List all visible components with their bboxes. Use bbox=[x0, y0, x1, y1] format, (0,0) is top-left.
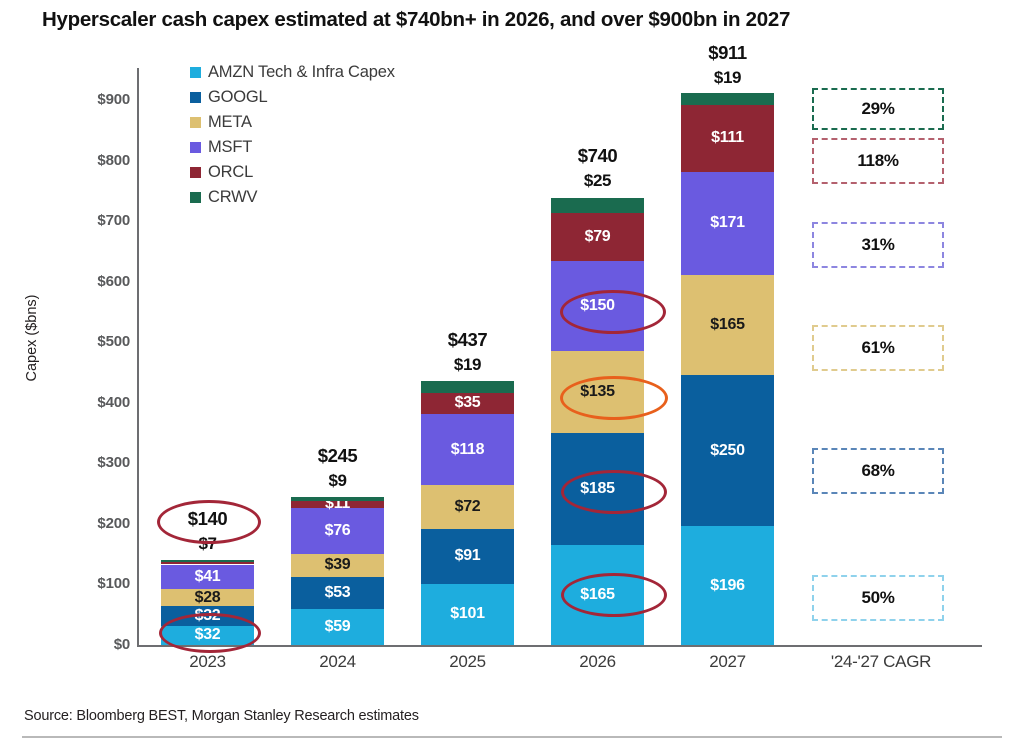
bar-segment-amzn-2027[interactable]: $196 bbox=[681, 526, 774, 645]
y-axis-tick: $500 bbox=[48, 333, 130, 350]
bar-total-label-2023: $140 bbox=[131, 508, 284, 530]
cagr-box-googl[interactable]: 68% bbox=[812, 448, 944, 494]
x-axis-label-2026: 2026 bbox=[536, 652, 659, 672]
segment-value-label: $59 bbox=[325, 619, 351, 635]
segment-value-label: $39 bbox=[325, 557, 351, 573]
cagr-box-msft[interactable]: 31% bbox=[812, 222, 944, 268]
bar-segment-googl-2023[interactable]: $32 bbox=[161, 606, 254, 625]
bar-segment-msft-2024[interactable]: $76 bbox=[291, 508, 384, 554]
bar-segment-meta-2027[interactable]: $165 bbox=[681, 275, 774, 375]
segment-value-label: $135 bbox=[580, 384, 614, 400]
bar-segment-meta-2023[interactable]: $28 bbox=[161, 589, 254, 606]
x-axis-label-2025: 2025 bbox=[406, 652, 529, 672]
bar-segment-googl-2025[interactable]: $91 bbox=[421, 529, 514, 584]
bar-segment-googl-2024[interactable]: $53 bbox=[291, 577, 384, 609]
bar-segment-msft-2027[interactable]: $171 bbox=[681, 172, 774, 275]
source-note: Source: Bloomberg BEST, Morgan Stanley R… bbox=[24, 708, 419, 724]
x-axis-line bbox=[137, 645, 982, 647]
y-axis-tick: $300 bbox=[48, 454, 130, 471]
y-axis-tick: $700 bbox=[48, 212, 130, 229]
cagr-value: 50% bbox=[861, 588, 894, 608]
bar-total-label-2026: $740 bbox=[521, 145, 674, 167]
segment-value-label: $185 bbox=[580, 481, 614, 497]
cagr-box-amzn[interactable]: 50% bbox=[812, 575, 944, 621]
bar-segment-msft-2023[interactable]: $41 bbox=[161, 565, 254, 590]
bar-segment-orcl-2024[interactable]: $11 bbox=[291, 501, 384, 508]
bar-total-label-2024: $245 bbox=[261, 445, 414, 467]
x-axis-label-2023: 2023 bbox=[146, 652, 269, 672]
bar-segment-meta-2025[interactable]: $72 bbox=[421, 485, 514, 529]
bar-segment-meta-2026[interactable]: $135 bbox=[551, 351, 644, 433]
y-axis-tick: $400 bbox=[48, 394, 130, 411]
segment-value-label: $72 bbox=[455, 499, 481, 515]
y-axis-tick: $600 bbox=[48, 273, 130, 290]
bar-segment-orcl-2023[interactable] bbox=[161, 562, 254, 564]
segment-value-label: $32 bbox=[195, 608, 221, 624]
top-segment-label-2026: $25 bbox=[521, 171, 674, 191]
cagr-value: 61% bbox=[861, 338, 894, 358]
bar-segment-orcl-2027[interactable]: $111 bbox=[681, 105, 774, 172]
bar-segment-amzn-2026[interactable]: $165 bbox=[551, 545, 644, 645]
bottom-divider bbox=[22, 736, 1002, 738]
bar-segment-amzn-2025[interactable]: $101 bbox=[421, 584, 514, 645]
bar-segment-crwv-2027[interactable] bbox=[681, 93, 774, 104]
segment-value-label: $91 bbox=[455, 548, 481, 564]
bar-segment-crwv-2023[interactable] bbox=[161, 560, 254, 562]
segment-value-label: $171 bbox=[710, 215, 744, 231]
segment-value-label: $165 bbox=[580, 587, 614, 603]
top-segment-label-2027: $19 bbox=[651, 68, 804, 88]
y-axis-tick: $100 bbox=[48, 575, 130, 592]
segment-value-label: $111 bbox=[711, 130, 744, 146]
bar-total-label-2025: $437 bbox=[391, 329, 544, 351]
bar-segment-googl-2027[interactable]: $250 bbox=[681, 375, 774, 526]
segment-value-label: $53 bbox=[325, 585, 351, 601]
cagr-value: 29% bbox=[861, 99, 894, 119]
bar-segment-msft-2025[interactable]: $118 bbox=[421, 414, 514, 485]
bar-group-2023[interactable]: $32$32$28$41$7$140 bbox=[161, 0, 254, 645]
bar-segment-crwv-2026[interactable] bbox=[551, 198, 644, 213]
top-segment-label-2023: $7 bbox=[131, 534, 284, 554]
bar-segment-amzn-2024[interactable]: $59 bbox=[291, 609, 384, 645]
cagr-box-meta[interactable]: 61% bbox=[812, 325, 944, 371]
bar-group-2024[interactable]: $59$53$39$76$11$9$245 bbox=[291, 0, 384, 645]
plot-area: Capex ($bns) $900$800$700$600$500$400$30… bbox=[0, 0, 1024, 743]
bar-group-2025[interactable]: $101$91$72$118$35$19$437 bbox=[421, 0, 514, 645]
segment-value-label: $118 bbox=[451, 442, 485, 458]
top-segment-label-2024: $9 bbox=[261, 471, 414, 491]
segment-value-label: $76 bbox=[325, 523, 351, 539]
bar-segment-crwv-2024[interactable] bbox=[291, 497, 384, 501]
x-axis-label-cagr: '24-'27 CAGR bbox=[806, 652, 956, 672]
bar-segment-amzn-2023[interactable]: $32 bbox=[161, 626, 254, 645]
segment-value-label: $35 bbox=[455, 395, 481, 411]
y-axis-tick: $900 bbox=[48, 91, 130, 108]
x-axis-label-2024: 2024 bbox=[276, 652, 399, 672]
y-axis-tick: $200 bbox=[48, 515, 130, 532]
bar-segment-orcl-2026[interactable]: $79 bbox=[551, 213, 644, 261]
bar-group-2026[interactable]: $165$185$135$150$79$25$740 bbox=[551, 0, 644, 645]
cagr-box-orcl[interactable]: 118% bbox=[812, 138, 944, 184]
bar-segment-meta-2024[interactable]: $39 bbox=[291, 554, 384, 578]
segment-value-label: $28 bbox=[195, 590, 221, 606]
bar-segment-googl-2026[interactable]: $185 bbox=[551, 433, 644, 545]
bar-group-2027[interactable]: $196$250$165$171$111$19$911 bbox=[681, 0, 774, 645]
y-axis-tick: $0 bbox=[48, 636, 130, 653]
y-axis-title: Capex ($bns) bbox=[24, 268, 40, 408]
y-axis-line bbox=[137, 68, 139, 646]
segment-value-label: $196 bbox=[710, 578, 744, 594]
bar-segment-msft-2026[interactable]: $150 bbox=[551, 261, 644, 352]
segment-value-label: $41 bbox=[195, 569, 221, 585]
segment-value-label: $79 bbox=[585, 229, 611, 245]
top-segment-label-2025: $19 bbox=[391, 355, 544, 375]
y-axis-tick: $800 bbox=[48, 152, 130, 169]
cagr-value: 68% bbox=[861, 461, 894, 481]
segment-value-label: $250 bbox=[710, 443, 744, 459]
cagr-value: 118% bbox=[857, 151, 898, 171]
bar-segment-orcl-2025[interactable]: $35 bbox=[421, 393, 514, 414]
segment-value-label: $101 bbox=[450, 606, 484, 622]
cagr-box-crwv[interactable]: 29% bbox=[812, 88, 944, 130]
x-axis-label-2027: 2027 bbox=[666, 652, 789, 672]
bar-segment-crwv-2025[interactable] bbox=[421, 381, 514, 392]
segment-value-label: $32 bbox=[195, 627, 221, 643]
segment-value-label: $150 bbox=[580, 298, 614, 314]
segment-value-label: $165 bbox=[710, 317, 744, 333]
bar-total-label-2027: $911 bbox=[651, 42, 804, 64]
cagr-value: 31% bbox=[861, 235, 894, 255]
